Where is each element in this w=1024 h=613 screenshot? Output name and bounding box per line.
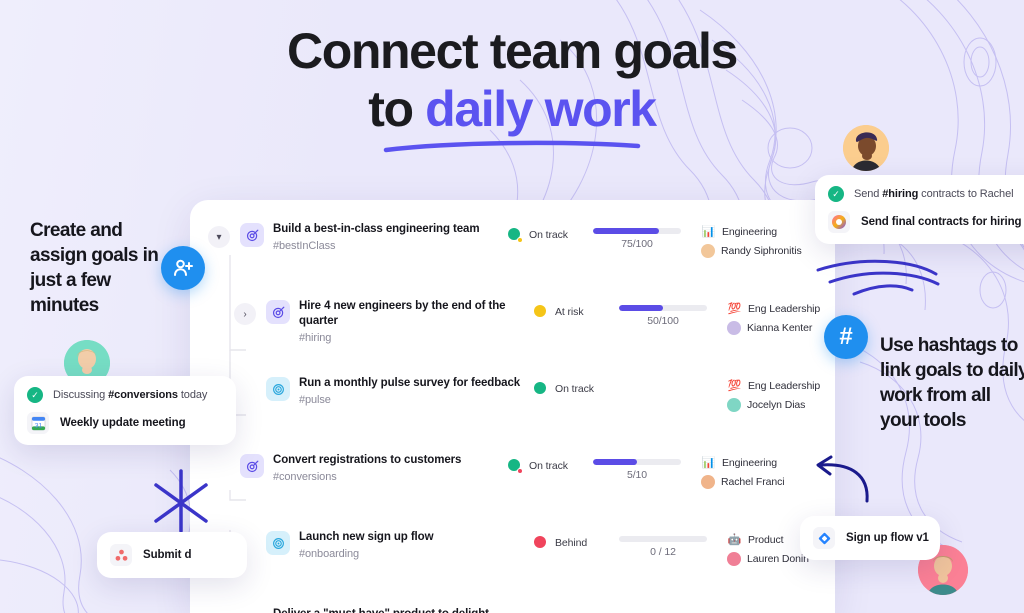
status-dot-main xyxy=(534,305,546,317)
card-line-app[interactable]: Submit d xyxy=(110,544,234,566)
card-line-app[interactable]: Send final contracts for hiring xyxy=(828,211,1024,233)
team-cell: 💯 Eng Leadership Jocelyn Dias xyxy=(707,368,835,417)
progress-track xyxy=(619,536,707,542)
chevron-down-icon[interactable]: ▾ xyxy=(208,226,230,248)
card-line-app[interactable]: Sign up flow v1 xyxy=(813,527,927,549)
goal-main: Run a monthly pulse survey for feedback … xyxy=(256,368,534,406)
goal-hashtag: #pulse xyxy=(299,394,520,406)
team-row: 💯 Eng Leadership xyxy=(727,379,835,393)
chevron-right-icon[interactable]: › xyxy=(234,303,256,325)
goals-list: ▾ Build a best-in-class engineering team… xyxy=(190,200,835,613)
jira-icon xyxy=(813,527,835,549)
status-label: On track xyxy=(529,229,568,241)
goal-main: Deliver a "must have" product to delight… xyxy=(230,599,508,613)
status-badge: At risk xyxy=(534,291,619,319)
hundred-points-icon: 💯 xyxy=(727,379,742,393)
status-badge: On track xyxy=(534,368,619,396)
add-user-icon[interactable] xyxy=(161,246,205,290)
bar-chart-icon: 📊 xyxy=(701,456,716,470)
progress-label: 0 / 12 xyxy=(619,546,707,558)
hashtag-bold: #conversions xyxy=(108,389,178,401)
progress-bar: 50/100 xyxy=(619,291,707,327)
svg-text:31: 31 xyxy=(34,422,42,429)
goal-title: Convert registrations to customers xyxy=(273,453,461,468)
goal-texts: Run a monthly pulse survey for feedback … xyxy=(299,368,520,406)
team-row: 📊 Engineering xyxy=(701,456,835,470)
prefix: Discussing xyxy=(53,389,108,401)
card-line-status: ✓ Send #hiring contracts to Rachel xyxy=(828,186,1024,202)
team-name: Product xyxy=(748,534,784,546)
hundred-points-icon: 💯 xyxy=(727,302,742,316)
headline-accent-text: daily work xyxy=(425,81,656,137)
check-circle-icon: ✓ xyxy=(27,387,43,403)
avatar xyxy=(727,398,741,412)
goal-main: Hire 4 new engineers by the end of the q… xyxy=(256,291,534,344)
table-row[interactable]: › Deliver a "must have" product to delig… xyxy=(190,599,835,613)
owner-name: Kianna Kenter xyxy=(747,322,812,334)
goal-target-icon xyxy=(266,300,290,324)
progress-bar: 0 / 12 xyxy=(619,522,707,558)
goal-title: Hire 4 new engineers by the end of the q… xyxy=(299,299,534,329)
suffix: contracts to Rachel xyxy=(918,188,1013,200)
table-row[interactable]: · Launch new sign up flow #onboarding Be… xyxy=(190,522,835,599)
card-line-app[interactable]: 31 Weekly update meeting xyxy=(27,412,223,434)
progress-bar: 5/10 xyxy=(593,445,681,481)
team-row: 💯 Eng Leadership xyxy=(727,302,835,316)
status-badge: Behind xyxy=(534,522,619,550)
card-app-label: Weekly update meeting xyxy=(60,417,186,429)
left-callout-text: Create and assign goals in just a few mi… xyxy=(30,218,180,318)
goal-hashtag: #onboarding xyxy=(299,548,433,560)
goals-panel: ▾ Build a best-in-class engineering team… xyxy=(190,200,835,613)
progress-fill xyxy=(593,459,637,465)
team-name: Engineering xyxy=(722,457,777,469)
avatar xyxy=(727,552,741,566)
owner-name: Lauren Donin xyxy=(747,553,809,565)
owner-name: Randy Siphronitis xyxy=(721,245,802,257)
suffix: today xyxy=(178,389,207,401)
progress-track xyxy=(593,228,681,234)
progress-track xyxy=(593,459,681,465)
avatar xyxy=(701,244,715,258)
team-cell: 🙂 Sales Reporting Cristofer Press xyxy=(681,599,835,613)
progress-fill xyxy=(619,305,663,311)
goal-rings-icon xyxy=(266,531,290,555)
status-dot xyxy=(508,459,522,473)
progress-bar: 100 / 100 xyxy=(593,599,681,613)
card-app-label: Submit d xyxy=(143,549,191,561)
owner-name: Jocelyn Dias xyxy=(747,399,805,411)
status-dot-main xyxy=(534,382,546,394)
avatar xyxy=(727,321,741,335)
right-callout-text: Use hashtags to link goals to daily work… xyxy=(880,333,1024,433)
status-label: On track xyxy=(555,383,594,395)
expander-placeholder: · xyxy=(208,457,230,479)
headline-line-2-prefix: to xyxy=(368,81,425,137)
goal-target-icon xyxy=(240,454,264,478)
status-dot-main xyxy=(534,536,546,548)
goal-title: Run a monthly pulse survey for feedback xyxy=(299,376,520,391)
goal-main: Convert registrations to customers #conv… xyxy=(230,445,508,483)
owner-row: Rachel Franci xyxy=(701,475,835,489)
owner-row: Randy Siphronitis xyxy=(701,244,835,258)
card-submit[interactable]: Submit d xyxy=(97,532,247,578)
bar-chart-icon: 📊 xyxy=(701,225,716,239)
goal-title: Launch new sign up flow xyxy=(299,530,433,545)
table-row[interactable]: › Hire 4 new engineers by the end of the… xyxy=(190,291,835,368)
status-dot xyxy=(534,536,548,550)
progress-bar xyxy=(619,368,707,386)
card-conversions[interactable]: ✓ Discussing #conversions today 31 Weekl… xyxy=(14,376,236,445)
owner-row: Jocelyn Dias xyxy=(727,398,835,412)
goal-texts: Hire 4 new engineers by the end of the q… xyxy=(299,291,534,344)
card-hiring[interactable]: ✓ Send #hiring contracts to Rachel Send … xyxy=(815,175,1024,244)
progress-label: 75/100 xyxy=(593,238,681,250)
status-dot xyxy=(508,228,522,242)
status-label: Behind xyxy=(555,537,587,549)
headline-underline xyxy=(382,140,642,154)
owner-name: Rachel Franci xyxy=(721,476,784,488)
table-row[interactable]: · Convert registrations to customers #co… xyxy=(190,445,835,522)
status-dot xyxy=(534,382,548,396)
progress-label: 50/100 xyxy=(619,315,707,327)
status-badge: On track xyxy=(508,599,593,613)
goal-texts: Convert registrations to customers #conv… xyxy=(273,445,461,483)
table-row[interactable]: ▾ Build a best-in-class engineering team… xyxy=(190,214,835,291)
avatar xyxy=(701,475,715,489)
card-line-status: ✓ Discussing #conversions today xyxy=(27,387,223,403)
progress-fill xyxy=(593,228,659,234)
table-row[interactable]: · Run a monthly pulse survey for feedbac… xyxy=(190,368,835,445)
check-circle-icon: ✓ xyxy=(828,186,844,202)
status-badge: On track xyxy=(508,214,593,242)
goal-texts: Build a best-in-class engineering team #… xyxy=(273,214,479,252)
goal-texts: Deliver a "must have" product to delight… xyxy=(273,599,508,613)
goal-main: Build a best-in-class engineering team #… xyxy=(230,214,508,252)
status-dot xyxy=(534,305,548,319)
expander-placeholder: · xyxy=(234,380,256,402)
status-label: At risk xyxy=(555,306,583,318)
card-app-label: Send final contracts for hiring xyxy=(861,216,1021,228)
team-name: Engineering xyxy=(722,226,777,238)
hashtag-icon[interactable]: # xyxy=(824,315,868,359)
gmail-icon xyxy=(828,211,850,233)
prefix: Send xyxy=(854,188,882,200)
avatar xyxy=(843,125,889,171)
goal-title: Deliver a "must have" product to delight… xyxy=(273,607,508,613)
team-cell: 📊 Engineering Randy Siphronitis xyxy=(681,214,835,263)
team-name: Eng Leadership xyxy=(748,380,820,392)
goal-title: Build a best-in-class engineering team xyxy=(273,222,479,237)
goal-hashtag: #bestInClass xyxy=(273,240,479,252)
team-cell: 📊 Engineering Rachel Franci xyxy=(681,445,835,494)
robot-icon: 🤖 xyxy=(727,533,742,547)
asana-icon xyxy=(110,544,132,566)
google-calendar-icon: 31 xyxy=(27,412,49,434)
card-app-label: Sign up flow v1 xyxy=(846,532,929,544)
team-cell: 💯 Eng Leadership Kianna Kenter xyxy=(707,291,835,340)
owner-row: Kianna Kenter xyxy=(727,321,835,335)
hashtag-bold: #hiring xyxy=(882,188,918,200)
progress-track xyxy=(619,305,707,311)
goal-hashtag: #hiring xyxy=(299,332,534,344)
goal-hashtag: #conversions xyxy=(273,471,461,483)
status-dot-sub xyxy=(517,468,523,474)
card-signup[interactable]: Sign up flow v1 xyxy=(800,516,940,560)
card-status-text: Discussing #conversions today xyxy=(53,389,207,401)
status-dot-sub xyxy=(517,237,523,243)
goal-main: Launch new sign up flow #onboarding xyxy=(256,522,534,560)
progress-label: 5/10 xyxy=(593,469,681,481)
goal-target-icon xyxy=(240,223,264,247)
goal-rings-icon xyxy=(266,377,290,401)
goal-texts: Launch new sign up flow #onboarding xyxy=(299,522,433,560)
status-badge: On track xyxy=(508,445,593,473)
status-label: On track xyxy=(529,460,568,472)
progress-bar: 75/100 xyxy=(593,214,681,250)
team-name: Eng Leadership xyxy=(748,303,820,315)
page-root: Connect team goals to daily work xyxy=(0,0,1024,613)
card-status-text: Send #hiring contracts to Rachel xyxy=(854,188,1013,200)
